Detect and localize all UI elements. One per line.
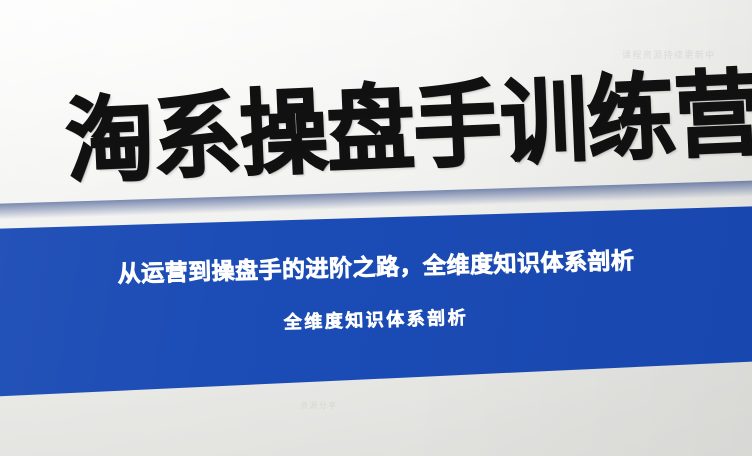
poster-title-text: 淘系操盘手训练营 [64, 68, 746, 189]
watermark-top-right: 课程资源持续更新中 [622, 48, 716, 61]
watermark-bottom-center: 资源分享 [300, 400, 338, 411]
poster-title: 淘系操盘手训练营 [64, 69, 707, 179]
course-poster: 淘系操盘手训练营 从运营到操盘手的进阶之路，全维度知识体系剖析 全维度知识体系剖… [0, 0, 752, 456]
